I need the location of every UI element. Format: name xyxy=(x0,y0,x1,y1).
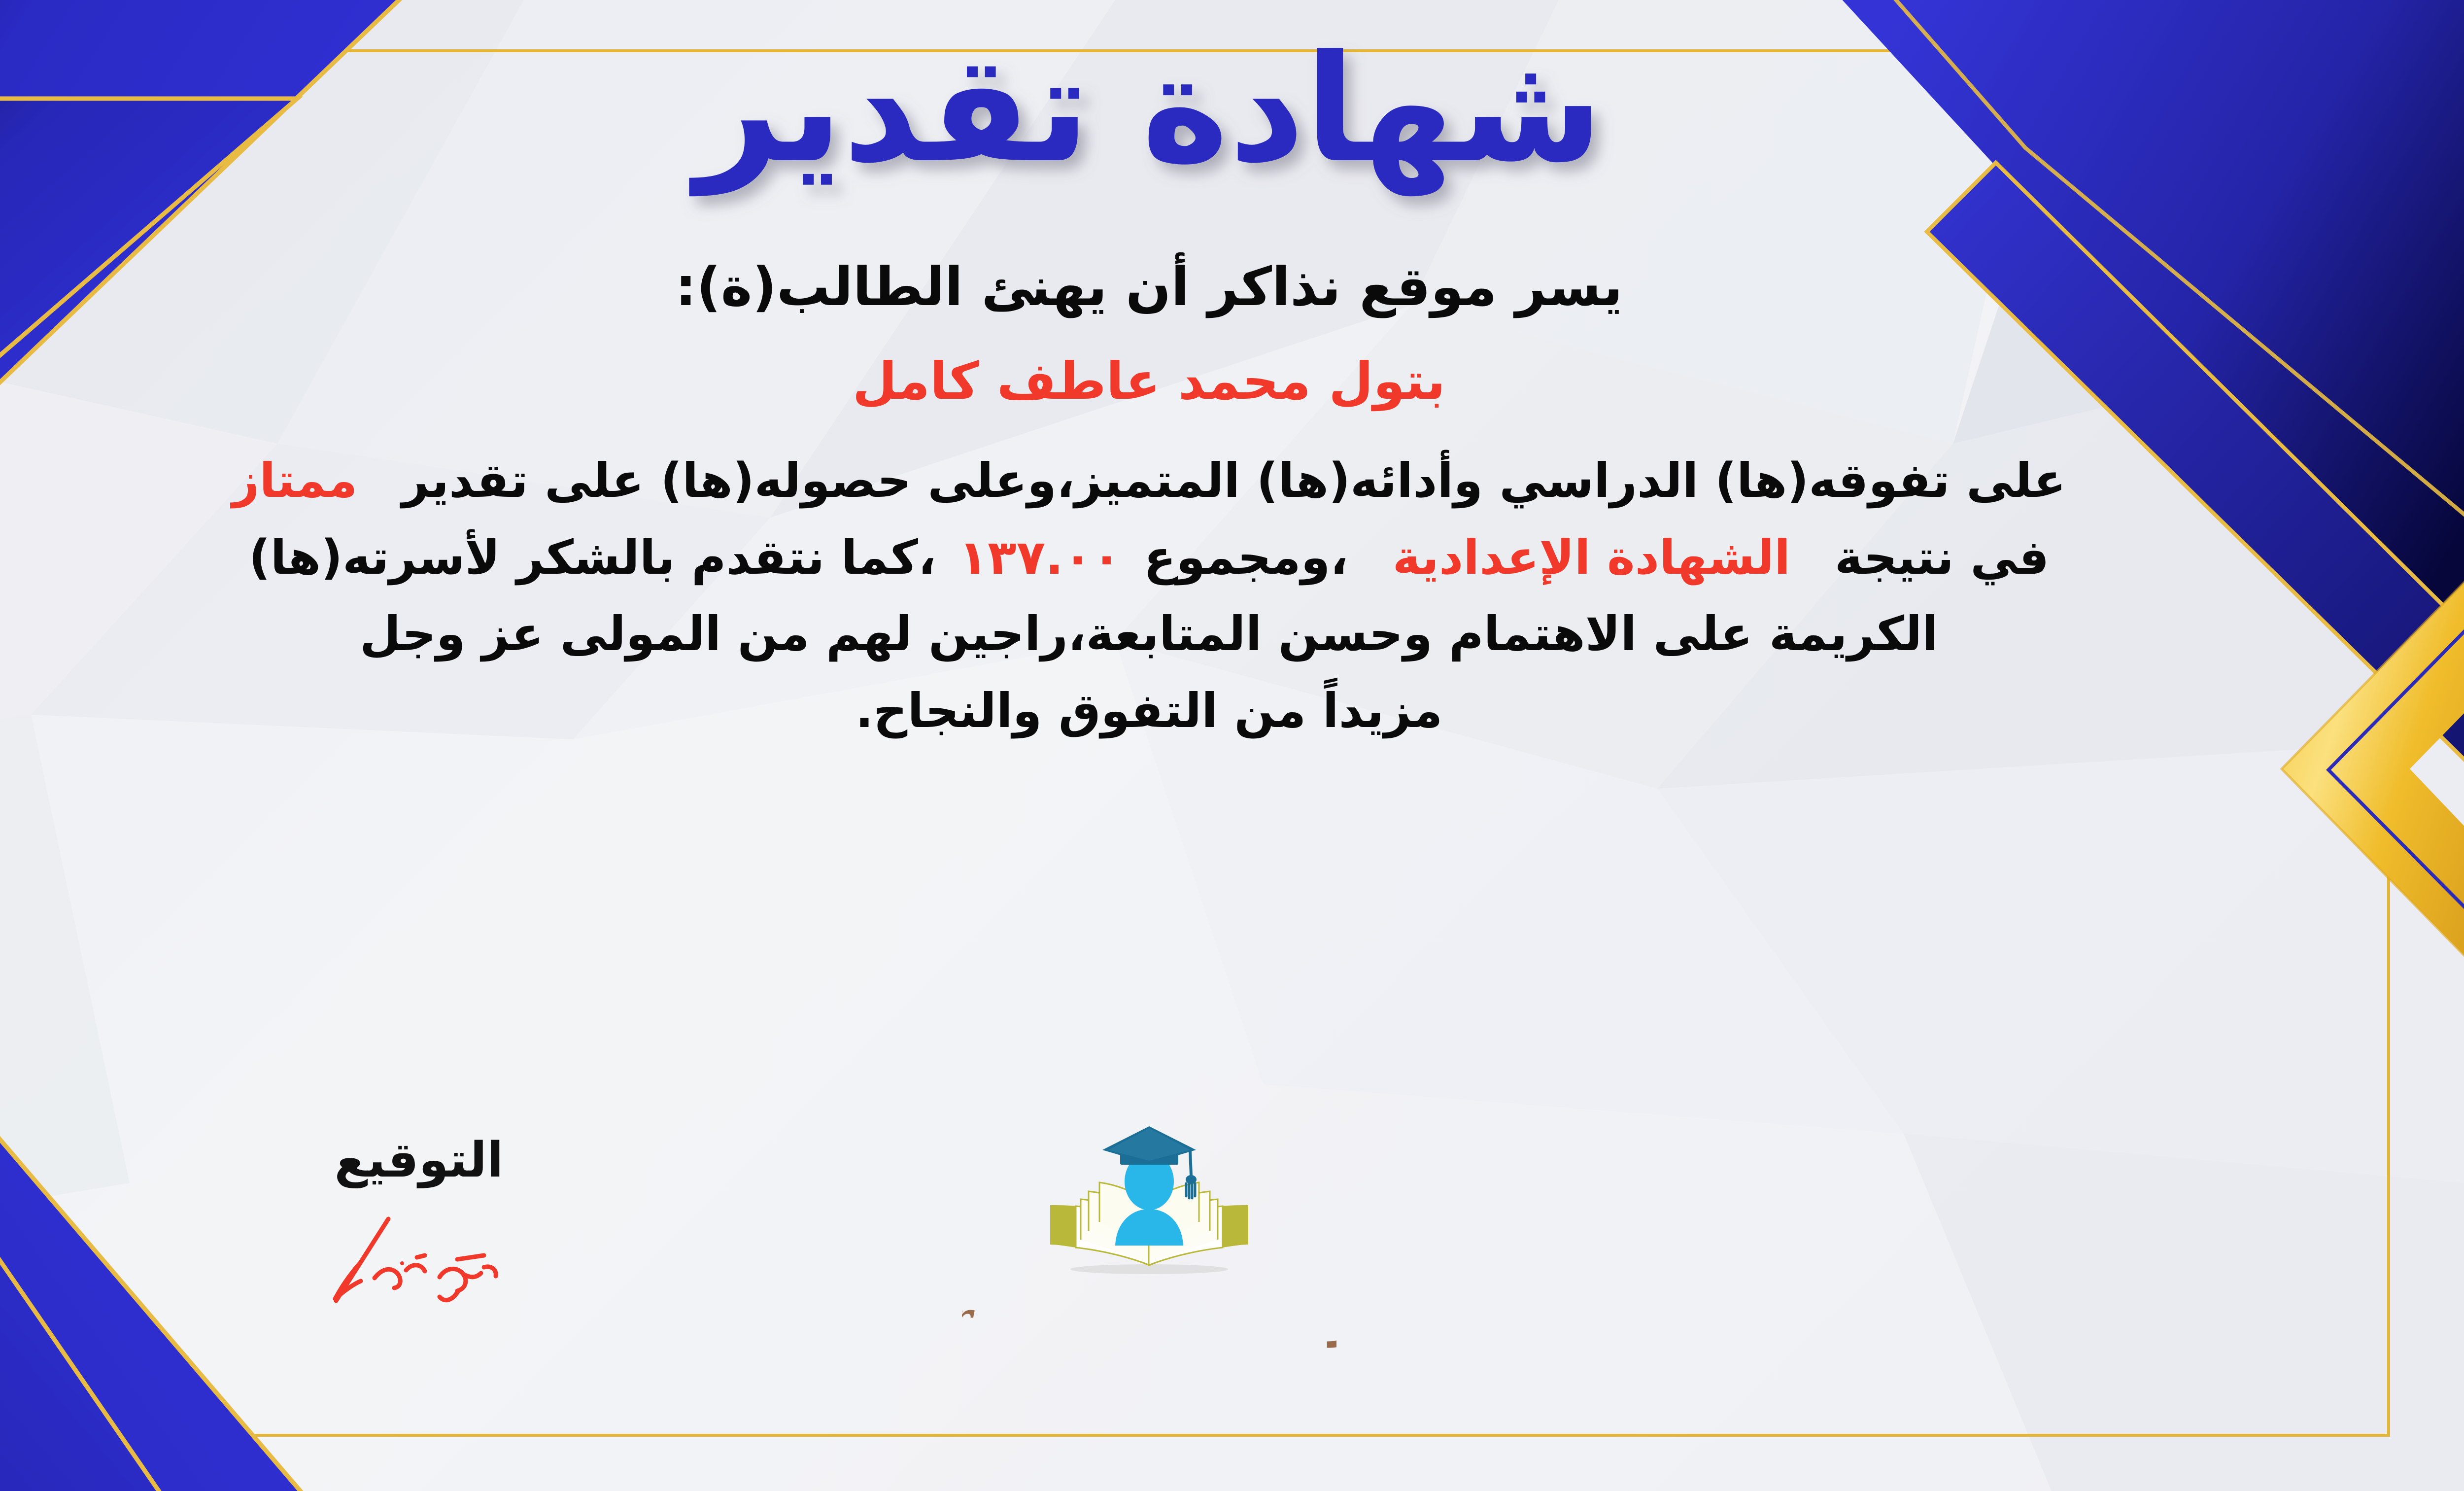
greeting-line: يسر موقع نذاكر أن يهنئ الطالب(ة): xyxy=(675,254,1623,320)
body-paragraph: على تفوقه(ها) الدراسي وأدائه(ها) المتميز… xyxy=(11,443,2288,749)
page-title-text: شهادة تقدير xyxy=(688,23,1603,197)
body-line-3: الكريمة على الاهتمام وحسن المتابعة،راجين… xyxy=(11,596,2288,673)
body-line-2-mid: ،ومجموع xyxy=(1144,530,1348,585)
certificate-content: شهادة تقدير يسر موقع نذاكر أن يهنئ الطال… xyxy=(0,0,2464,1491)
exam-name: الشهادة الإعدادية xyxy=(1393,530,1790,585)
page-title: شهادة تقدير xyxy=(0,47,2464,205)
certificate-page: شهادة تقدير يسر موقع نذاكر أن يهنئ الطال… xyxy=(0,0,2464,1491)
body-line-4: مزيداً من التفوق والنجاح. xyxy=(11,673,2288,750)
grade-value: ممتاز xyxy=(232,453,357,508)
body-line-2: في نتيجةالشهادة الإعدادية،ومجموع١٣٧.٠٠،ك… xyxy=(11,520,2288,596)
student-name: بتول محمد عاطف كامل xyxy=(853,349,1445,413)
body-line-1: على تفوقه(ها) الدراسي وأدائه(ها) المتميز… xyxy=(11,443,2288,520)
body-line-1-text: على تفوقه(ها) الدراسي وأدائه(ها) المتميز… xyxy=(402,453,2066,508)
total-score: ١٣٧.٠٠ xyxy=(958,530,1121,585)
body-line-2-prefix: في نتيجة xyxy=(1835,530,2049,585)
body-line-2-suffix: ،كما نتقدم بالشكر لأسرته(ها) xyxy=(249,530,936,585)
